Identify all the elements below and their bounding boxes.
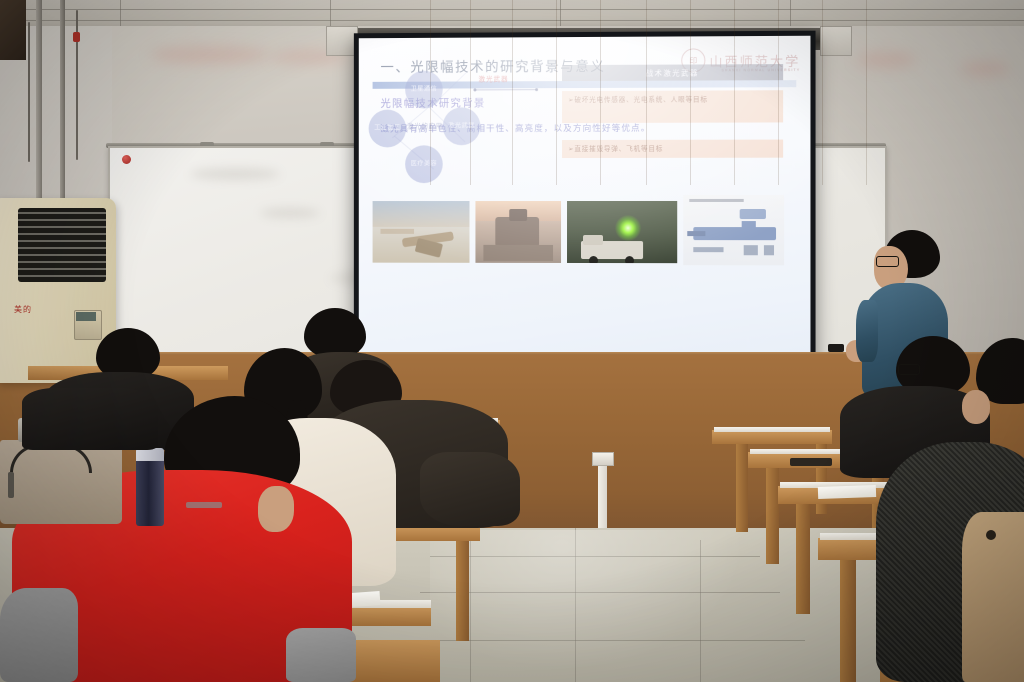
corner-cabinet [0, 0, 26, 60]
air-conditioner-brand: 美的 [14, 304, 32, 315]
slide-photo-vehicle [475, 201, 561, 263]
wall-socket[interactable] [592, 452, 614, 466]
desk-right-back [712, 430, 832, 444]
red-jacket-hand [258, 486, 294, 532]
cable-conduit [598, 455, 607, 530]
coat-on-desk [22, 388, 158, 450]
classroom-photo-scene: Redleaf 一、光限幅技术的研究背景与意义 印 山西师范大学 SHANXI … [0, 0, 1024, 682]
projection-screen[interactable]: 一、光限幅技术的研究背景与意义 印 山西师范大学 SHANXI NORMAL U… [354, 31, 816, 389]
diagram-node-bottom: 医疗美容 [405, 145, 443, 183]
slide-photo-laser-rifle [683, 195, 784, 265]
jacket-zip-detail [186, 502, 222, 508]
phone-on-desk[interactable] [790, 458, 832, 466]
diagram-center-label: 激光的应用 [394, 122, 455, 131]
slide-photo-laser-truck [567, 201, 677, 263]
glasses-icon [898, 364, 920, 375]
slide-canvas: 一、光限幅技术的研究背景与意义 印 山西师范大学 SHANXI NORMAL U… [359, 36, 811, 384]
panel-header: 战术激光武器 [562, 64, 783, 81]
thermos[interactable] [136, 452, 164, 526]
air-conditioner-display [76, 312, 96, 321]
wall-pipe-2 [60, 0, 65, 200]
handbag-key-fob [8, 472, 14, 498]
whiteboard-magnet[interactable] [122, 155, 131, 164]
screen-housing-right-cap [820, 26, 852, 56]
coat-button [986, 530, 996, 540]
paper-sheet[interactable] [818, 485, 876, 499]
diagram-callout-label: 激光武器 [478, 73, 508, 83]
panel-bullet-1: ➢破坏光电传感器、光电系统、人眼等目标 [562, 90, 783, 123]
diagram-node-top: 卫星通信 [405, 71, 443, 109]
slide-photo-aircraft [373, 201, 470, 263]
paper-sheet[interactable] [352, 591, 381, 607]
wall-fixture [73, 32, 80, 42]
air-conditioner-grille [18, 208, 106, 282]
presentation-clicker[interactable] [828, 344, 844, 352]
wall-pipe [36, 0, 42, 200]
red-jacket-gray-panel [0, 588, 78, 682]
glasses-icon [876, 256, 899, 267]
panel-bullet-2: ➢直接摧毁导弹、飞机等目标 [562, 140, 783, 158]
